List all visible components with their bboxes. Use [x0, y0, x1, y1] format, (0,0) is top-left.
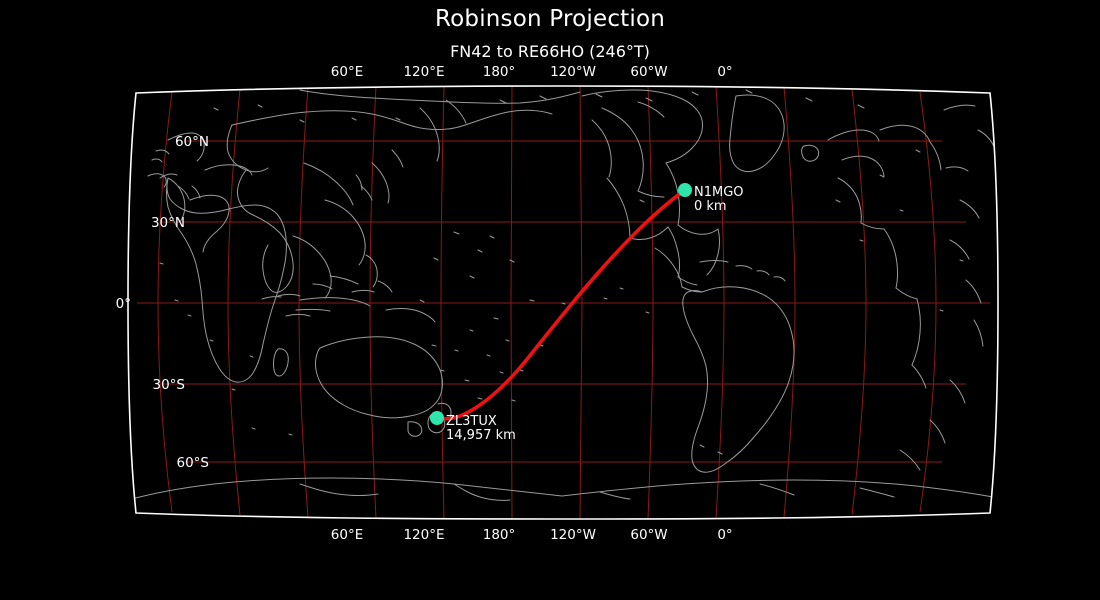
- lon-label-top-5: 0°: [717, 64, 732, 80]
- lat-label-0: 60°N: [175, 134, 209, 150]
- longitude-labels-bottom: 60°E 120°E 180° 120°W 60°W 0°: [331, 527, 733, 543]
- lon-label-bottom-0: 60°E: [331, 527, 363, 543]
- marker-destination-distance: 14,957 km: [446, 428, 516, 443]
- lon-label-bottom-5: 0°: [717, 527, 732, 543]
- lon-label-top-4: 60°W: [630, 64, 667, 80]
- lon-label-top-2: 180°: [483, 64, 516, 80]
- lon-label-bottom-2: 180°: [483, 527, 516, 543]
- robinson-map-canvas: N1MGO 0 km ZL3TUX 14,957 km 60°E 120°E 1…: [0, 0, 1100, 600]
- longitude-labels-top: 60°E 120°E 180° 120°W 60°W 0°: [331, 64, 733, 80]
- marker-destination-callsign: ZL3TUX: [446, 414, 497, 429]
- lon-label-bottom-3: 120°W: [550, 527, 596, 543]
- marker-origin-distance: 0 km: [694, 199, 727, 214]
- marker-origin-callsign: N1MGO: [694, 185, 744, 200]
- marker-origin-dot[interactable]: [678, 183, 692, 197]
- lon-label-top-3: 120°W: [550, 64, 596, 80]
- lat-label-1: 30°N: [151, 215, 185, 231]
- lat-label-4: 60°S: [177, 455, 210, 471]
- map-figure: Robinson Projection FN42 to RE66HO (246°…: [0, 0, 1100, 600]
- map-body: [120, 80, 1010, 530]
- lat-label-3: 30°S: [153, 377, 186, 393]
- lon-label-top-1: 120°E: [403, 64, 444, 80]
- lon-label-bottom-4: 60°W: [630, 527, 667, 543]
- lon-label-top-0: 60°E: [331, 64, 363, 80]
- lat-label-2: 0°: [116, 296, 131, 312]
- lon-label-bottom-1: 120°E: [403, 527, 444, 543]
- marker-destination-dot[interactable]: [430, 411, 444, 425]
